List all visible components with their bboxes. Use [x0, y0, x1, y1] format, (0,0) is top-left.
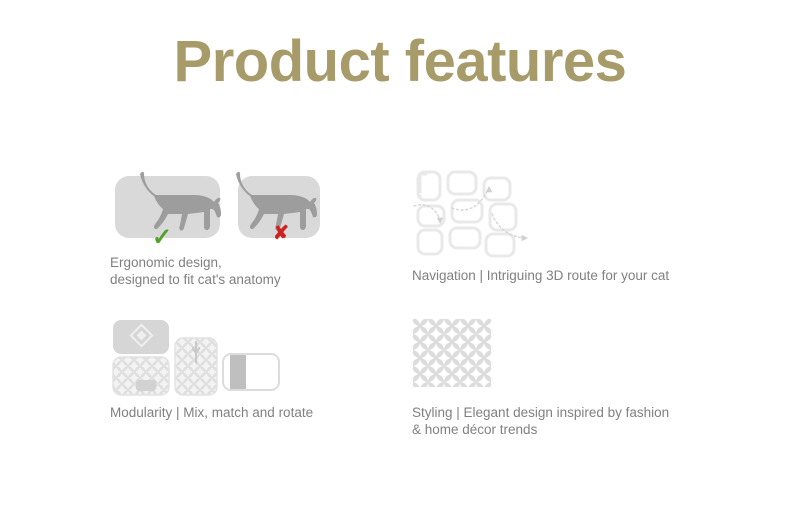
quatrefoil-pattern-svg — [412, 318, 494, 390]
feature-styling: Styling | Elegant design inspired by fas… — [412, 318, 707, 388]
maze-route-grid-icon — [412, 168, 542, 256]
feature-navigation: Navigation | Intriguing 3D route for you… — [412, 168, 702, 256]
cat-silhouette-good-icon — [132, 168, 224, 248]
modular-tiles-svg — [110, 318, 285, 398]
maze-route-grid-svg — [412, 168, 542, 260]
feature-caption-styling: Styling | Elegant design inspired by fas… — [412, 404, 712, 438]
page-title: Product features — [0, 28, 800, 95]
quatrefoil-pattern-swatch-icon — [412, 318, 494, 388]
cross-icon: ✘ — [273, 224, 289, 243]
two-cats-on-platforms-icon: ✓ ✘ — [110, 168, 325, 248]
feature-modularity: Modularity | Mix, match and rotate — [110, 318, 360, 396]
tile-band — [230, 355, 246, 389]
feature-caption-modularity: Modularity | Mix, match and rotate — [110, 404, 370, 421]
feature-caption-navigation: Navigation | Intriguing 3D route for you… — [412, 267, 712, 284]
modular-tiles-icon — [110, 318, 285, 396]
checkmark-icon: ✓ — [152, 226, 172, 250]
feature-caption-ergonomic: Ergonomic design, designed to fit cat's … — [110, 254, 360, 288]
feature-ergonomic: ✓ ✘ Ergonomic design, designed to fit ca… — [110, 168, 360, 248]
tile-accent-block — [136, 380, 156, 391]
